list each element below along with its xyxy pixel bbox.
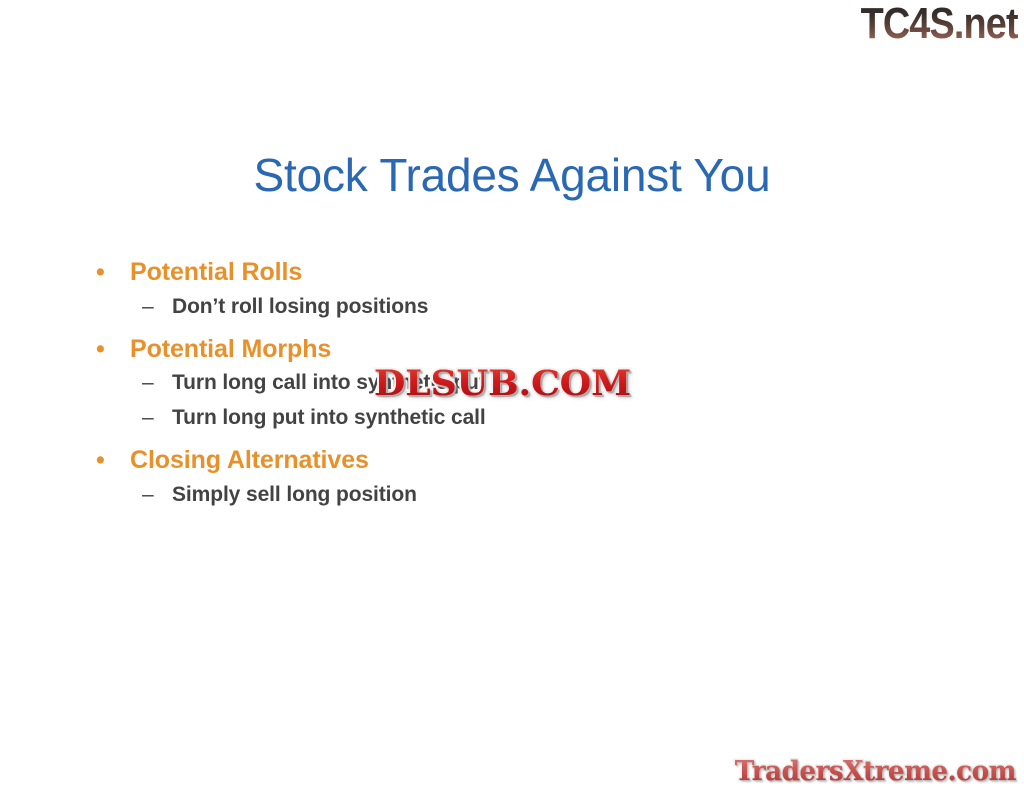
sub-bullet-label: Don’t roll losing positions <box>172 295 428 318</box>
bullet-heading-label: Potential Morphs <box>130 335 331 363</box>
dash-icon: – <box>142 369 154 397</box>
sub-bullet-label: Turn long put into synthetic call <box>172 406 486 429</box>
tc4s-brand-logo: TC4S.net <box>861 2 1018 46</box>
bullet-heading: • Potential Morphs <box>86 333 806 366</box>
bullet-heading: • Potential Rolls <box>86 256 806 289</box>
slide-canvas: TC4S.net Stock Trades Against You • Pote… <box>0 0 1024 791</box>
dash-icon: – <box>142 481 154 509</box>
sub-bullet-item: – Simply sell long position <box>86 481 806 509</box>
dlsub-watermark: DLSUB.COMDLSUB.COM <box>374 366 631 401</box>
bullet-heading: • Closing Alternatives <box>86 444 806 477</box>
page-title: Stock Trades Against You <box>0 149 1024 202</box>
bullet-group: • Potential Rolls – Don’t roll losing po… <box>86 256 806 321</box>
dash-icon: – <box>142 293 154 321</box>
sub-bullet-item: – Turn long put into synthetic call <box>86 404 806 432</box>
dlsub-watermark-fill: DLSUB.COM <box>374 366 631 401</box>
bullet-dot-icon: • <box>96 333 105 366</box>
tradersxtreme-footer-logo-fill: TradersXtreme.com <box>735 758 1016 785</box>
bullet-dot-icon: • <box>96 444 105 477</box>
dash-icon: – <box>142 404 154 432</box>
bullet-heading-label: Closing Alternatives <box>130 446 369 474</box>
sub-bullet-label: Simply sell long position <box>172 483 417 506</box>
tradersxtreme-footer-logo: TradersXtreme.comTradersXtreme.com <box>735 758 1016 785</box>
sub-bullet-item: – Don’t roll losing positions <box>86 293 806 321</box>
bullet-heading-label: Potential Rolls <box>130 258 302 286</box>
bullet-dot-icon: • <box>96 256 105 289</box>
bullet-group: • Closing Alternatives – Simply sell lon… <box>86 444 806 509</box>
